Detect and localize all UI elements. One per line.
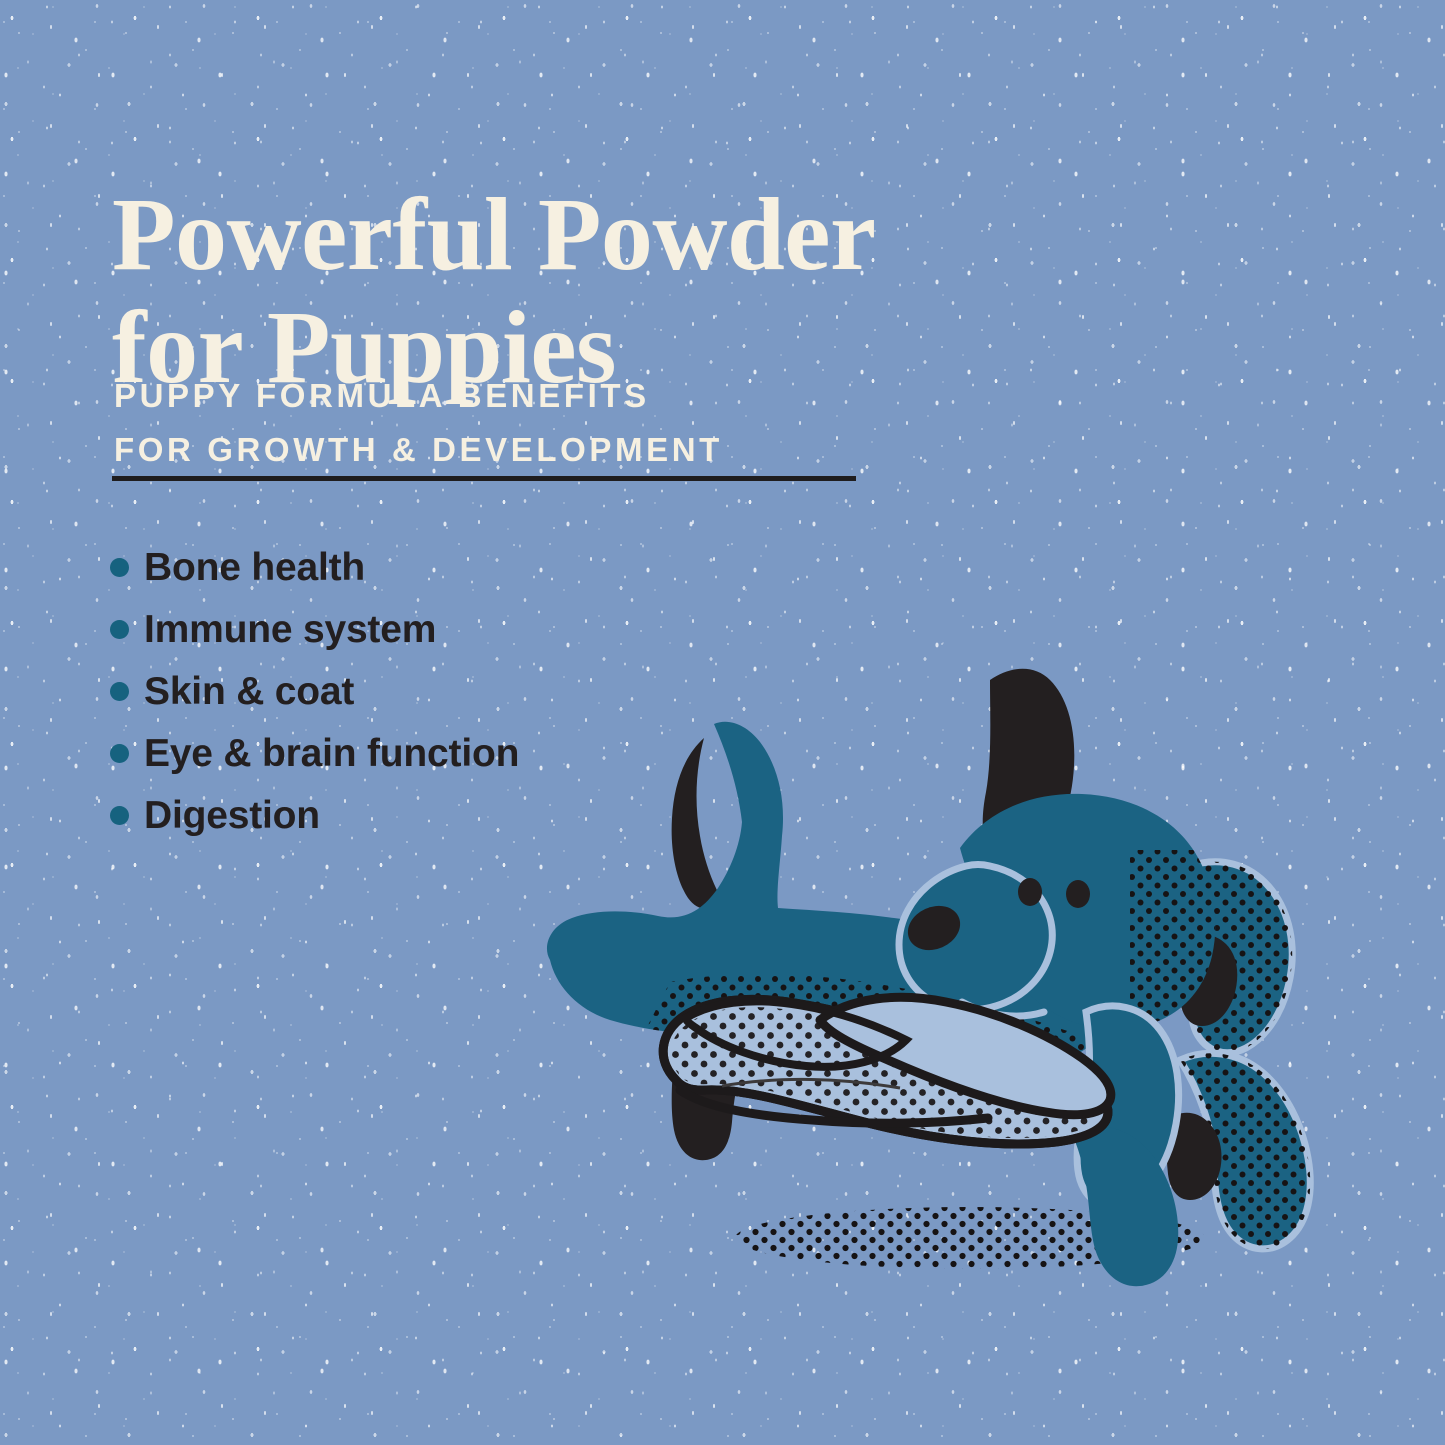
- list-item: Skin & coat: [110, 660, 519, 722]
- benefit-label: Skin & coat: [144, 672, 354, 711]
- benefit-label: Bone health: [144, 548, 365, 587]
- title-divider-rule: [112, 476, 856, 481]
- benefit-label: Immune system: [144, 610, 436, 649]
- list-item: Immune system: [110, 598, 519, 660]
- bullet-dot-icon: [110, 744, 129, 763]
- benefit-label: Digestion: [144, 796, 320, 835]
- bullet-dot-icon: [110, 620, 129, 639]
- poster-canvas: Powerful Powder for Puppies Puppy Formul…: [0, 0, 1445, 1445]
- bullet-dot-icon: [110, 682, 129, 701]
- list-item: Bone health: [110, 536, 519, 598]
- page-subtitle: Puppy Formula Benefits for Growth & Deve…: [114, 369, 1014, 476]
- puppy-illustration: [490, 660, 1390, 1320]
- benefits-list: Bone health Immune system Skin & coat Ey…: [110, 536, 519, 846]
- list-item: Eye & brain function: [110, 722, 519, 784]
- list-item: Digestion: [110, 784, 519, 846]
- bullet-dot-icon: [110, 806, 129, 825]
- benefit-label: Eye & brain function: [144, 734, 519, 773]
- bullet-dot-icon: [110, 558, 129, 577]
